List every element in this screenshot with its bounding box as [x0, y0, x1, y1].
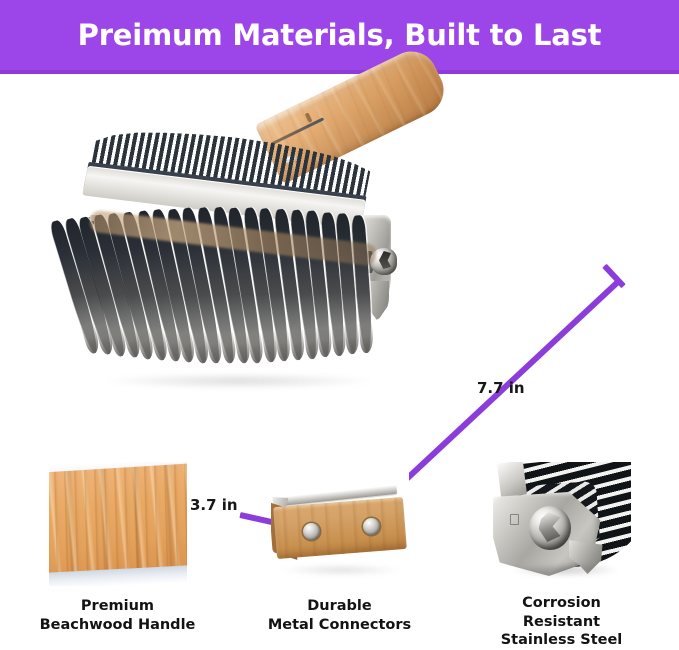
feature-caption: Premium Beachwood Handle — [40, 597, 196, 634]
steel-stamp-mark — [510, 514, 519, 525]
feature-caption: Corrosion Resistant Stainless Steel — [482, 594, 642, 650]
stainless-steel-closeup-icon — [493, 462, 631, 583]
feature-caption-line2: Stainless Steel — [482, 631, 642, 650]
feature-caption-line2: Metal Connectors — [268, 616, 411, 635]
metal-rivet — [303, 523, 320, 540]
curved-dematting-blades — [83, 187, 383, 365]
feature-caption-line1: Durable — [268, 597, 411, 616]
product-drop-shadow — [105, 373, 373, 389]
product-image-dematting-rake — [75, 119, 445, 409]
feature-item-metal-connectors: Durable Metal Connectors — [260, 462, 420, 650]
wood-block — [273, 497, 407, 559]
product-hero-area: 3.7 in 7.7 in — [0, 74, 679, 459]
steel-side-plate — [497, 462, 527, 497]
metal-connector-closeup-icon — [271, 462, 409, 586]
feature-caption-line1: Premium — [40, 597, 196, 616]
feature-row: Premium Beachwood Handle Durable Metal C… — [0, 462, 679, 650]
dimension-length-label: 7.7 in — [477, 379, 525, 397]
feature-caption-line1: Corrosion Resistant — [482, 594, 642, 631]
feature-caption-line2: Beachwood Handle — [40, 616, 196, 635]
wood-grain-closeup-icon — [49, 462, 187, 586]
page-title: Preimum Materials, Built to Last — [78, 21, 602, 50]
feature-caption: Durable Metal Connectors — [268, 597, 411, 634]
feature-item-stainless-steel: Corrosion Resistant Stainless Steel — [482, 462, 642, 650]
feature-item-beachwood-handle: Premium Beachwood Handle — [38, 462, 198, 650]
steel-shadow — [511, 563, 619, 577]
connector-shadow — [281, 564, 401, 576]
header-banner: Preimum Materials, Built to Last — [0, 0, 679, 74]
wood-grain-texture — [273, 497, 407, 559]
metal-rivet — [363, 518, 380, 535]
